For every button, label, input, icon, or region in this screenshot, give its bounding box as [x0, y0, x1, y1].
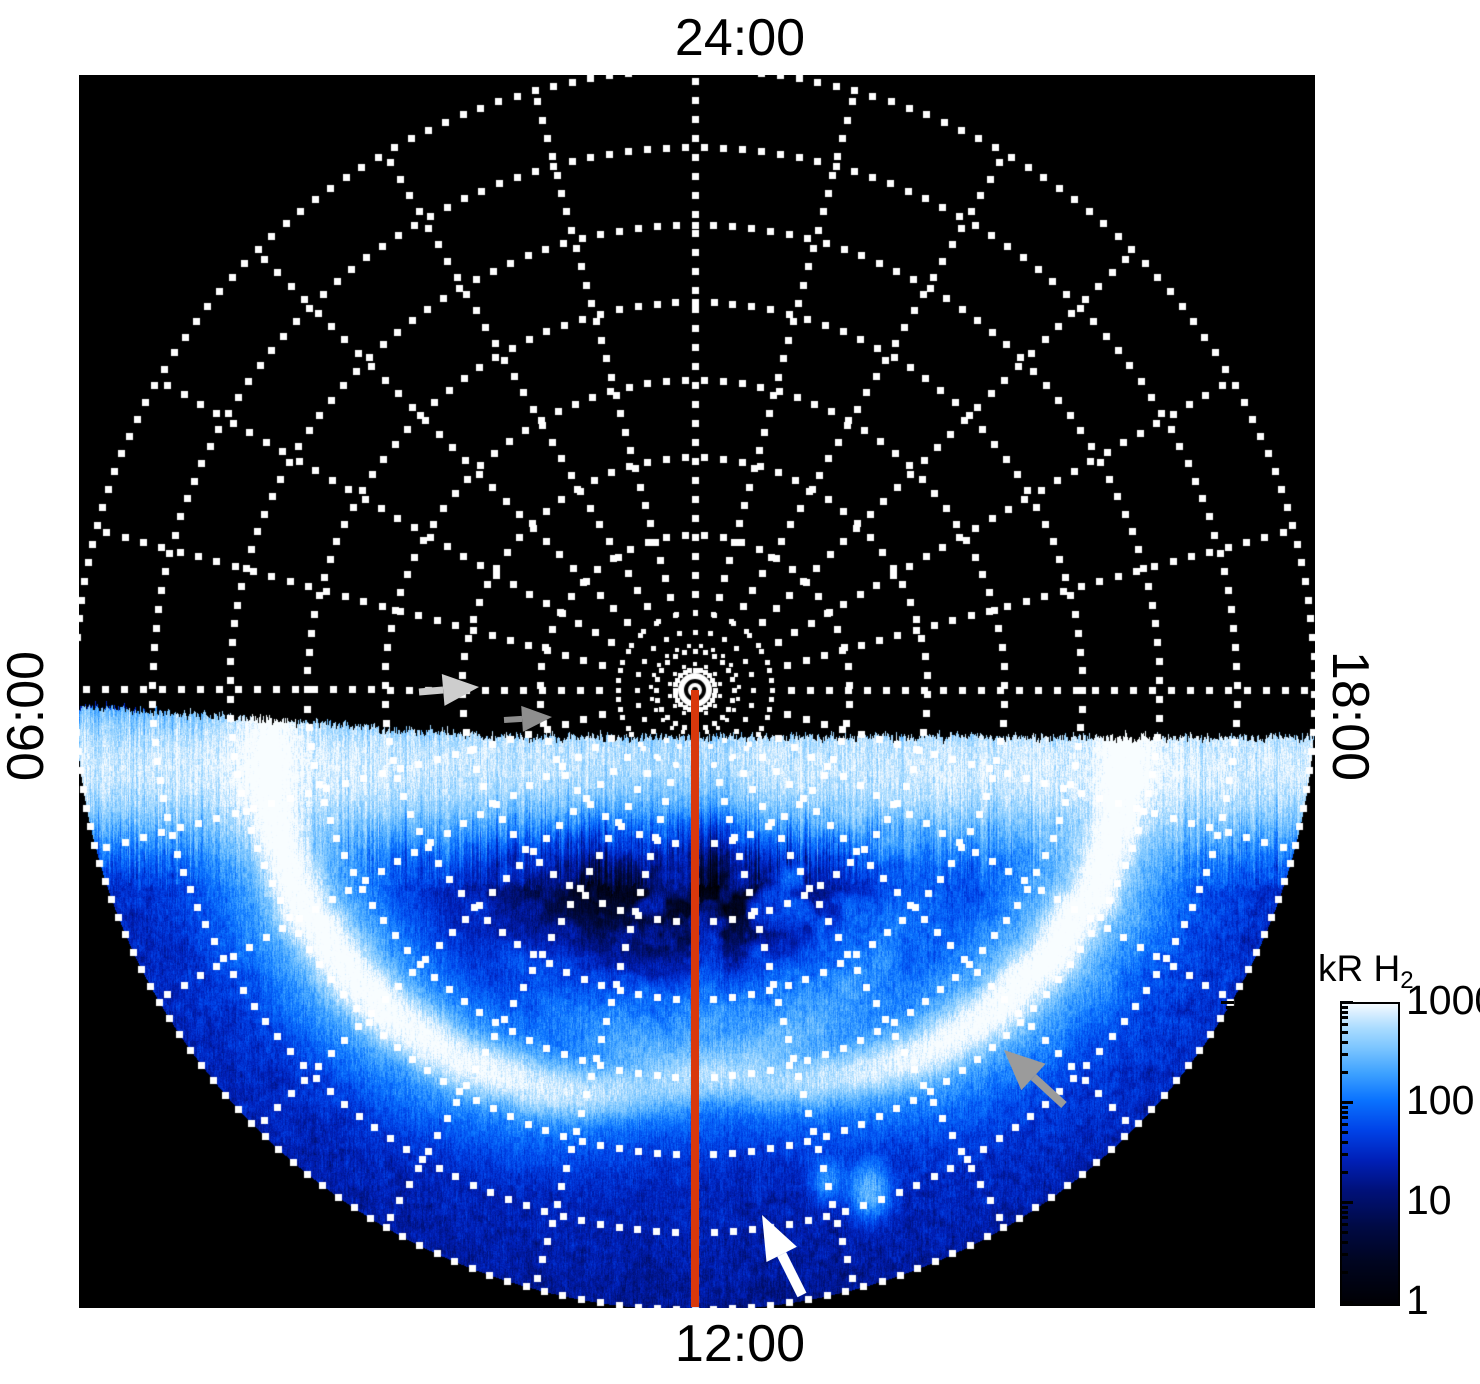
colorbar-minor-tick — [1226, 1141, 1234, 1144]
colorbar-title: kR H2 — [1318, 948, 1414, 990]
colorbar-minor-tick — [1226, 1131, 1234, 1134]
colorbar-minor-tick — [1226, 1223, 1234, 1226]
arrow-gray-dusk-arc — [1004, 1050, 1064, 1105]
colorbar-minor-tick — [1226, 1231, 1234, 1234]
colorbar-minor-tick — [1340, 1006, 1348, 1009]
colorbar-major-tick — [1221, 1101, 1234, 1104]
colorbar-minor-tick — [1340, 1241, 1348, 1244]
colorbar-minor-tick — [1340, 1011, 1348, 1014]
colorbar-minor-tick — [1226, 1016, 1234, 1019]
colorbar-minor-tick — [1226, 1153, 1234, 1156]
arrow-light-gray-dawn — [419, 674, 479, 706]
colorbar-minor-tick — [1340, 1106, 1348, 1109]
colorbar-major-tick — [1340, 1101, 1353, 1104]
colorbar-minor-tick — [1226, 1253, 1234, 1256]
colorbar-major-tick — [1221, 1301, 1234, 1304]
colorbar-minor-tick — [1226, 1211, 1234, 1214]
colorbar-minor-tick — [1226, 1106, 1234, 1109]
colorbar-minor-tick — [1340, 1016, 1348, 1019]
colorbar-minor-tick — [1340, 1211, 1348, 1214]
colorbar-minor-tick — [1340, 1253, 1348, 1256]
colorbar-minor-tick — [1226, 1023, 1234, 1026]
colorbar-tick-label: 1 — [1406, 1280, 1429, 1321]
colorbar-title-main: kR H — [1318, 948, 1400, 989]
colorbar-minor-tick — [1340, 1271, 1348, 1274]
colorbar-minor-tick — [1340, 1206, 1348, 1209]
colorbar-minor-tick — [1340, 1123, 1348, 1126]
clock-label-right: 18:00 — [1324, 606, 1376, 826]
colorbar-minor-tick — [1226, 1171, 1234, 1174]
colorbar-major-tick — [1340, 1301, 1353, 1304]
colorbar-minor-tick — [1226, 1123, 1234, 1126]
colorbar-gradient — [1340, 1002, 1400, 1306]
colorbar-minor-tick — [1226, 1216, 1234, 1219]
colorbar-minor-tick — [1340, 1223, 1348, 1226]
colorbar-minor-tick — [1340, 1131, 1348, 1134]
colorbar-minor-tick — [1340, 1031, 1348, 1034]
clock-label-left: 06:00 — [0, 606, 52, 826]
colorbar-minor-tick — [1340, 1071, 1348, 1074]
colorbar-major-tick — [1221, 1001, 1234, 1004]
colorbar-tick-label: 100 — [1406, 1080, 1474, 1121]
polar-plot-panel — [79, 75, 1315, 1308]
colorbar-minor-tick — [1340, 1116, 1348, 1119]
colorbar-minor-tick — [1226, 1041, 1234, 1044]
colorbar-minor-tick — [1340, 1216, 1348, 1219]
colorbar-minor-tick — [1340, 1053, 1348, 1056]
colorbar-major-tick — [1340, 1201, 1353, 1204]
clock-label-top: 24:00 — [0, 12, 1480, 64]
colorbar-minor-tick — [1226, 1053, 1234, 1056]
colorbar-minor-tick — [1226, 1071, 1234, 1074]
colorbar-minor-tick — [1340, 1153, 1348, 1156]
colorbar-minor-tick — [1226, 1271, 1234, 1274]
colorbar-minor-tick — [1226, 1206, 1234, 1209]
colorbar-minor-tick — [1340, 1171, 1348, 1174]
colorbar-minor-tick — [1226, 1031, 1234, 1034]
colorbar-tick-label: 1000 — [1406, 980, 1480, 1021]
arrow-mid-gray-dawn — [504, 706, 552, 732]
colorbar-minor-tick — [1340, 1231, 1348, 1234]
colorbar-major-tick — [1221, 1201, 1234, 1204]
colorbar-minor-tick — [1340, 1141, 1348, 1144]
colorbar-tick-label: 10 — [1406, 1180, 1452, 1221]
colorbar-minor-tick — [1226, 1006, 1234, 1009]
colorbar-minor-tick — [1226, 1116, 1234, 1119]
annotation-arrow-layer — [79, 75, 1315, 1308]
colorbar-minor-tick — [1226, 1011, 1234, 1014]
colorbar-minor-tick — [1226, 1241, 1234, 1244]
clock-label-bottom: 12:00 — [0, 1318, 1480, 1370]
colorbar-major-tick — [1340, 1001, 1353, 1004]
arrow-white-patch — [762, 1215, 802, 1295]
colorbar-minor-tick — [1340, 1023, 1348, 1026]
figure-root: 24:00 12:00 06:00 18:00 kR H2 1000100101 — [0, 0, 1480, 1384]
colorbar-minor-tick — [1340, 1111, 1348, 1114]
colorbar-minor-tick — [1226, 1111, 1234, 1114]
colorbar-minor-tick — [1340, 1041, 1348, 1044]
